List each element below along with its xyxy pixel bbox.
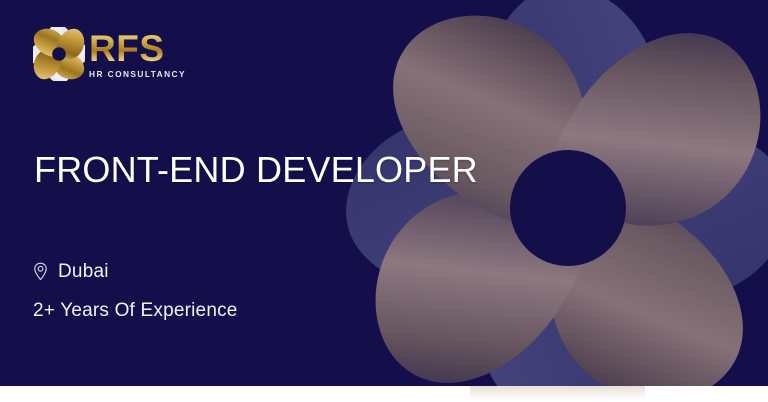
brand-wordmark: RFS HR CONSULTANCY bbox=[89, 29, 186, 80]
brand-tagline: HR CONSULTANCY bbox=[89, 69, 186, 79]
brand-name: RFS bbox=[89, 31, 186, 67]
brand-logo[interactable]: RFS HR CONSULTANCY bbox=[33, 27, 186, 81]
map-pin-icon bbox=[33, 262, 48, 281]
job-title: FRONT-END DEVELOPER bbox=[34, 149, 478, 191]
job-experience: 2+ Years Of Experience bbox=[33, 300, 238, 322]
job-location-row: Dubai bbox=[33, 261, 238, 283]
job-location: Dubai bbox=[58, 261, 109, 283]
pinwheel-logo-icon bbox=[33, 27, 85, 81]
bottom-strip bbox=[0, 386, 768, 402]
job-posting-banner: RFS HR CONSULTANCY FRONT-END DEVELOPER D… bbox=[0, 0, 768, 402]
pinwheel-watermark-icon bbox=[318, 0, 768, 402]
job-meta: Dubai 2+ Years Of Experience bbox=[33, 261, 238, 322]
job-experience-row: 2+ Years Of Experience bbox=[33, 300, 238, 322]
